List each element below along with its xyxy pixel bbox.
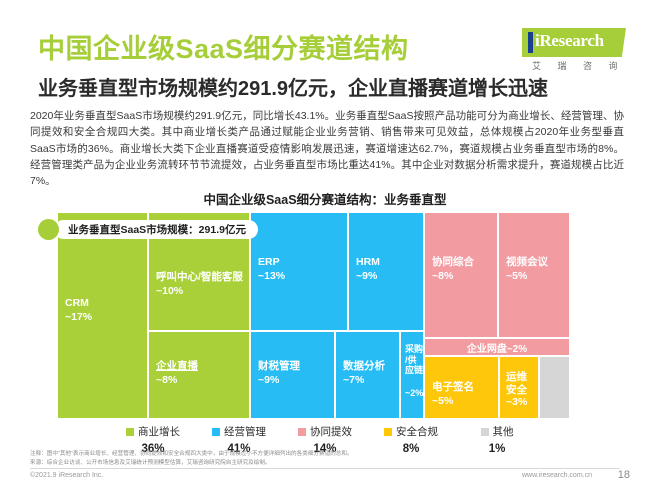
treemap-cells: CRM ~17% 呼叫中心/智能客服 ~10% 企业直播 ~8% ERP ~13… — [58, 213, 616, 418]
treemap-cell-value: ~2% — [405, 388, 423, 399]
treemap-cell-collaboration-suite: 协同综合 ~8% — [425, 213, 497, 337]
treemap-cell-value: ~8% — [156, 374, 177, 387]
footer-divider — [30, 468, 620, 469]
treemap-cell-value: ~5% — [432, 395, 453, 408]
treemap-cell-procurement-supplychain: 采购 /供 应链 ~2% — [401, 332, 423, 418]
treemap-cell-value: ~9% — [258, 374, 279, 387]
callout-dot-icon — [38, 219, 59, 240]
treemap-cell-value: ~10% — [156, 285, 183, 298]
treemap-cell-label: CRM — [65, 297, 89, 310]
treemap-cell-label: 视频会议 — [506, 256, 548, 269]
footer-page-number: 18 — [618, 469, 630, 481]
page-title: 中国企业级SaaS细分赛道结构 — [38, 27, 409, 66]
treemap-cell-enterprise-live: 企业直播 ~8% — [149, 332, 249, 418]
legend-label: 其他 — [493, 424, 514, 439]
logo-shape: iResearch — [522, 28, 626, 57]
logo-i-bar — [528, 32, 533, 53]
treemap-cell-value: ~9% — [356, 270, 377, 283]
treemap-cell-value: ~7% — [343, 374, 364, 387]
treemap-cell-label: 数据分析 — [343, 360, 385, 373]
treemap-chart: 业务垂直型SaaS市场规模：291.9亿元 CRM ~17% 呼叫中心/智能客服… — [30, 205, 626, 427]
treemap-cell-enterprise-netdisk: 企业网盘~2% — [425, 339, 569, 355]
treemap-cell-label: ERP — [258, 256, 280, 269]
footer-copyright: ©2021.9 iResearch Inc. — [30, 472, 103, 479]
legend-label: 协同提效 — [310, 424, 352, 439]
logo-chinese-text: 艾 瑞 咨 询 — [532, 59, 625, 72]
legend-label: 安全合规 — [396, 424, 438, 439]
treemap-cell-value: ~13% — [258, 270, 285, 283]
legend-swatch-icon — [298, 428, 306, 436]
treemap-cell-video-conference: 视频会议 ~5% — [499, 213, 569, 337]
legend-swatch-icon — [384, 428, 392, 436]
treemap-cell-label: 运维 安全 — [506, 371, 527, 396]
market-size-callout: 业务垂直型SaaS市场规模：291.9亿元 — [54, 220, 258, 239]
legend-swatch-icon — [126, 428, 134, 436]
treemap-cell-value: ~17% — [65, 311, 92, 324]
iresearch-logo: iResearch 艾 瑞 咨 询 — [522, 28, 626, 72]
footer-website: www.iresearch.com.cn — [522, 472, 592, 479]
logo-text: iResearch — [535, 31, 604, 51]
treemap-cell-value: ~8% — [432, 270, 453, 283]
treemap-cell-label: 电子签名 — [432, 381, 474, 394]
treemap-cell-label: HRM — [356, 256, 380, 269]
treemap-cell-label: 采购 /供 应链 — [405, 344, 423, 376]
treemap-cell-data-analytics: 数据分析 ~7% — [336, 332, 399, 418]
treemap-cell-label: 协同综合 — [432, 256, 474, 269]
treemap-cell-ops-security: 运维 安全 ~3% — [500, 357, 538, 418]
legend-swatch-icon — [481, 428, 489, 436]
treemap-cell-label: 呼叫中心/智能客服 — [156, 271, 243, 284]
treemap-cell-label: 企业直播 — [156, 360, 198, 373]
treemap-cell-finance-tax: 财税管理 ~9% — [251, 332, 334, 418]
legend-swatch-icon — [212, 428, 220, 436]
treemap-cell-e-signature: 电子签名 ~5% — [425, 357, 498, 418]
treemap-cell-other — [540, 357, 569, 418]
footnote-line-2: 来源：综合企业访谈、公开市场信息及艾瑞统计预测模型估算，艾瑞咨询研究院自主研究及… — [30, 459, 626, 468]
footnote-line-1: 注释：图中“其他”表示商业增长、经营管理、协同提效和安全合规四大类中，由于规模过… — [30, 450, 626, 459]
treemap-cell-crm: CRM ~17% — [58, 213, 147, 418]
legend-label: 商业增长 — [138, 424, 180, 439]
treemap-cell-erp: ERP ~13% — [251, 213, 347, 330]
footnotes: 注释：图中“其他”表示商业增长、经营管理、协同提效和安全合规四大类中，由于规模过… — [30, 450, 626, 467]
page-subtitle: 业务垂直型市场规模约291.9亿元，企业直播赛道增长迅速 — [38, 72, 548, 101]
treemap-cell-label: 财税管理 — [258, 360, 300, 373]
treemap-cell-hrm: HRM ~9% — [349, 213, 423, 330]
treemap-cell-label: 企业网盘~2% — [467, 340, 527, 355]
legend-label: 经营管理 — [224, 424, 266, 439]
treemap-cell-value: ~3% — [506, 397, 527, 408]
body-paragraph: 2020年业务垂直型SaaS市场规模约291.9亿元，同比增长43.1%。业务垂… — [30, 108, 624, 189]
treemap-cell-value: ~5% — [506, 270, 527, 283]
slide: 中国企业级SaaS细分赛道结构 业务垂直型市场规模约291.9亿元，企业直播赛道… — [0, 0, 650, 488]
